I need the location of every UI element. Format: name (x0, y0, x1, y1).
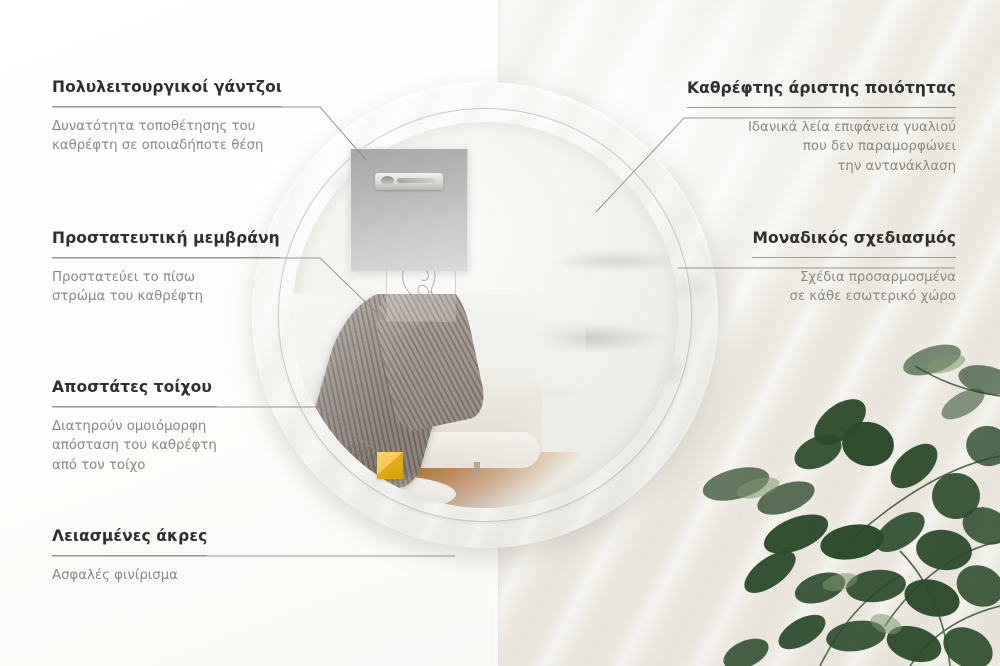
callout-rule (52, 555, 207, 556)
callout-membrane: Προστατευτική μεμβράνη Προστατεύει το πί… (52, 229, 280, 307)
foliage-decoration (700, 336, 1000, 666)
callout-rule (687, 107, 956, 108)
callout-smooth-edges: Λειασμένες άκρες Ασφαλές φινίρισμα (52, 527, 207, 585)
mirror-product (252, 82, 718, 548)
callout-title: Προστατευτική μεμβράνη (52, 229, 280, 248)
callout-hooks: Πολυλειτουργικοί γάντζοι Δυνατότητα τοπο… (52, 78, 282, 156)
callout-rule (52, 406, 217, 407)
callout-title: Λειασμένες άκρες (52, 527, 207, 546)
callout-title: Πολυλειτουργικοί γάντζοι (52, 78, 282, 97)
callout-description: Προστατεύει το πίσω στρώμα του καθρέφτη (52, 268, 280, 307)
callout-quality-mirror: Καθρέφτης άριστης ποιότητας Ιδανικά λεία… (687, 79, 956, 177)
callout-description: Δυνατότητα τοποθέτησης του καθρέφτη σε ο… (52, 117, 282, 156)
callout-wall-spacers: Αποστάτες τοίχου Διατηρούν ομοιόμορφη απ… (52, 378, 217, 476)
wall-spacer-detail (377, 452, 403, 479)
mirror-outer-disc (252, 82, 718, 548)
callout-description: Ασφαλές φινίρισμα (52, 566, 207, 586)
callout-description: Σχέδια προσαρμοσμένα σε κάθε εσωτερικό χ… (752, 268, 956, 307)
callout-rule (752, 257, 956, 258)
callout-rule (52, 257, 280, 258)
callout-rule (52, 106, 282, 107)
callout-title: Αποστάτες τοίχου (52, 378, 217, 397)
hook-slot (397, 178, 435, 183)
callout-unique-design: Μοναδικός σχεδιασμός Σχέδια προσαρμοσμέν… (752, 229, 956, 307)
callout-title: Μοναδικός σχεδιασμός (752, 229, 956, 248)
callout-title: Καθρέφτης άριστης ποιότητας (687, 79, 956, 98)
callout-description: Ιδανικά λεία επιφάνεια γυαλιού που δεν π… (687, 118, 956, 177)
hook-detail-inset (350, 148, 468, 271)
leaf-branches-icon (700, 336, 1000, 666)
hook-hole (381, 176, 394, 185)
mirror-inner-ring (278, 108, 692, 522)
infographic-stage: Πολυλειτουργικοί γάντζοι Δυνατότητα τοπο… (0, 0, 1000, 666)
callout-description: Διατηρούν ομοιόμορφη απόσταση του καθρέφ… (52, 417, 217, 476)
